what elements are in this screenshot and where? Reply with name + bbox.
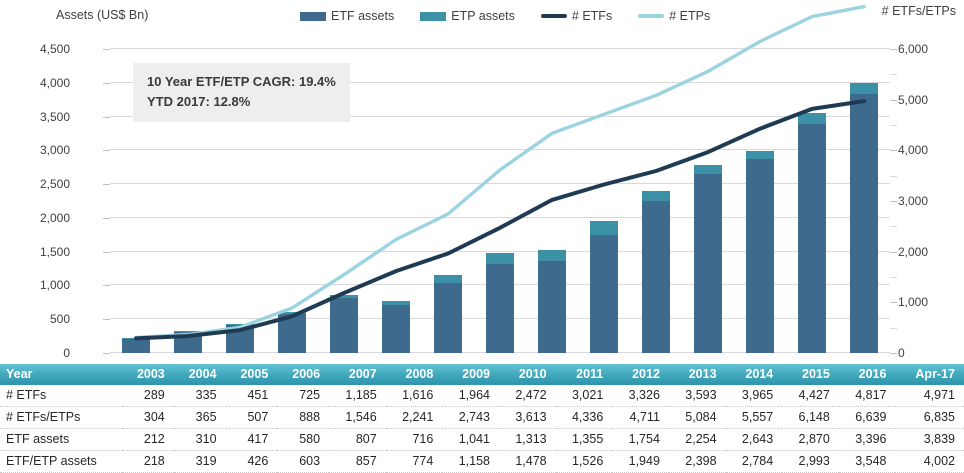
- table-cell: 3,326: [612, 385, 669, 407]
- table-cell: 1,526: [556, 451, 613, 473]
- table-cell: 426: [226, 451, 278, 473]
- right-minor-tick-mark: [890, 277, 897, 278]
- table-cell: 451: [226, 385, 278, 407]
- left-tick-mark: [103, 218, 110, 219]
- table-cell: 6,835: [895, 407, 964, 429]
- table-cell: 1,478: [499, 451, 556, 473]
- table-header-row: Year200320042005200620072008200920102011…: [0, 364, 964, 385]
- legend-item-etps[interactable]: # ETPs: [638, 9, 710, 23]
- left-tick-label: 4,000: [8, 76, 70, 90]
- table-cell: 2,643: [726, 429, 783, 451]
- left-tick-mark: [103, 83, 110, 84]
- table-cell: 4,427: [782, 385, 839, 407]
- table-row-label: ETF assets: [0, 429, 122, 451]
- right-tick-mark: [890, 353, 897, 354]
- left-tick-mark: [103, 150, 110, 151]
- table-cell: 6,639: [839, 407, 896, 429]
- legend-item-etf-assets[interactable]: ETF assets: [300, 9, 394, 23]
- right-tick-mark: [890, 201, 897, 202]
- table-cell: 1,616: [386, 385, 443, 407]
- table-cell: 1,949: [612, 451, 669, 473]
- table-cell: 2,784: [726, 451, 783, 473]
- table-row: ETF/ETP assets2183194266038577741,1581,4…: [0, 451, 964, 473]
- table-cell: 5,557: [726, 407, 783, 429]
- table-cell: 212: [122, 429, 174, 451]
- table-cell: 1,041: [442, 429, 499, 451]
- right-tick-label: 1,000: [898, 295, 958, 309]
- table-cell: 507: [226, 407, 278, 429]
- table-header-year: 2006: [277, 364, 329, 385]
- left-tick-label: 1,000: [8, 278, 70, 292]
- table-row-label: # ETFs/ETPs: [0, 407, 122, 429]
- table-cell: 5,084: [669, 407, 726, 429]
- table-cell: 3,593: [669, 385, 726, 407]
- table-header-year: 2003: [122, 364, 174, 385]
- table-cell: 365: [174, 407, 226, 429]
- table-cell: 2,241: [386, 407, 443, 429]
- annotation-cagr: 10 Year ETF/ETP CAGR: 19.4%: [147, 72, 336, 92]
- left-tick-label: 3,500: [8, 110, 70, 124]
- table-header-year: 2007: [329, 364, 386, 385]
- table-header: Year200320042005200620072008200920102011…: [0, 364, 964, 385]
- table-body: # ETFs2893354517251,1851,6161,9642,4723,…: [0, 385, 964, 473]
- right-tick-mark: [890, 302, 897, 303]
- table-row-label: # ETFs: [0, 385, 122, 407]
- right-tick-label: 5,000: [898, 93, 958, 107]
- left-tick-label: 3,000: [8, 143, 70, 157]
- right-tick-label: 4,000: [898, 143, 958, 157]
- table-cell: 725: [277, 385, 329, 407]
- table-cell: 1,185: [329, 385, 386, 407]
- table-cell: 417: [226, 429, 278, 451]
- legend-item-etfs[interactable]: # ETFs: [541, 9, 612, 23]
- table-row: # ETFs2893354517251,1851,6161,9642,4723,…: [0, 385, 964, 407]
- left-axis-title: Assets (US$ Bn): [56, 8, 148, 22]
- left-tick-mark: [103, 353, 110, 354]
- left-tick-label: 0: [8, 346, 70, 360]
- right-minor-tick-mark: [890, 74, 897, 75]
- table-cell: 888: [277, 407, 329, 429]
- right-tick-label: 6,000: [898, 42, 958, 56]
- right-tick-label: 3,000: [898, 194, 958, 208]
- table-cell: 4,336: [556, 407, 613, 429]
- right-tick-mark: [890, 100, 897, 101]
- right-minor-tick-mark: [890, 226, 897, 227]
- table-cell: 774: [386, 451, 443, 473]
- table-cell: 3,396: [839, 429, 896, 451]
- table-cell: 319: [174, 451, 226, 473]
- legend-label: ETP assets: [451, 9, 515, 23]
- line-etps: [136, 7, 864, 338]
- left-tick-mark: [103, 285, 110, 286]
- table-cell: 3,839: [895, 429, 964, 451]
- left-tick-mark: [103, 252, 110, 253]
- table-cell: 3,613: [499, 407, 556, 429]
- table-cell: 1,158: [442, 451, 499, 473]
- table-header-year: 2014: [726, 364, 783, 385]
- table-cell: 1,754: [612, 429, 669, 451]
- table-header-year: 2013: [669, 364, 726, 385]
- table-cell: 1,313: [499, 429, 556, 451]
- table-cell: 1,546: [329, 407, 386, 429]
- plot-wrapper: 05001,0001,5002,0002,5003,0003,5004,0004…: [0, 34, 964, 361]
- legend-line-icon: [541, 14, 567, 18]
- table-cell: 3,548: [839, 451, 896, 473]
- legend-label: ETF assets: [331, 9, 394, 23]
- legend-label: # ETFs: [572, 9, 612, 23]
- table-header-year: 2011: [556, 364, 613, 385]
- table-cell: 4,711: [612, 407, 669, 429]
- right-minor-tick-mark: [890, 176, 897, 177]
- data-table: Year200320042005200620072008200920102011…: [0, 364, 964, 473]
- left-tick-label: 2,000: [8, 211, 70, 225]
- right-tick-label: 2,000: [898, 245, 958, 259]
- table-cell: 1,964: [442, 385, 499, 407]
- legend-swatch-icon: [300, 12, 326, 21]
- table-cell: 289: [122, 385, 174, 407]
- legend-line-icon: [638, 14, 664, 18]
- legend-label: # ETPs: [669, 9, 710, 23]
- table-cell: 2,743: [442, 407, 499, 429]
- left-tick-label: 2,500: [8, 177, 70, 191]
- right-tick-mark: [890, 49, 897, 50]
- table-cell: 3,021: [556, 385, 613, 407]
- table-cell: 2,254: [669, 429, 726, 451]
- table-cell: 304: [122, 407, 174, 429]
- table-cell: 3,965: [726, 385, 783, 407]
- table-cell: 716: [386, 429, 443, 451]
- legend-swatch-icon: [420, 12, 446, 21]
- left-tick-label: 500: [8, 312, 70, 326]
- table-header-year: 2015: [782, 364, 839, 385]
- annotation-ytd: YTD 2017: 12.8%: [147, 92, 336, 112]
- table-cell: 580: [277, 429, 329, 451]
- table-cell: 6,148: [782, 407, 839, 429]
- table-header-year: Apr-17: [895, 364, 964, 385]
- legend-item-etp-assets[interactable]: ETP assets: [420, 9, 515, 23]
- chart-legend: ETF assetsETP assets# ETFs# ETPs: [300, 9, 710, 23]
- table-cell: 2,870: [782, 429, 839, 451]
- left-tick-label: 4,500: [8, 42, 70, 56]
- table-cell: 807: [329, 429, 386, 451]
- table-cell: 603: [277, 451, 329, 473]
- table-cell: 335: [174, 385, 226, 407]
- table-header-year: 2008: [386, 364, 443, 385]
- right-minor-tick-mark: [890, 125, 897, 126]
- table-header-year: 2012: [612, 364, 669, 385]
- left-tick-mark: [103, 49, 110, 50]
- left-tick-label: 1,500: [8, 245, 70, 259]
- table-row: # ETFs/ETPs3043655078881,5462,2412,7433,…: [0, 407, 964, 429]
- table-cell: 2,472: [499, 385, 556, 407]
- table-cell: 2,993: [782, 451, 839, 473]
- table-row-label: ETF/ETP assets: [0, 451, 122, 473]
- table-header-year: 2010: [499, 364, 556, 385]
- left-tick-mark: [103, 319, 110, 320]
- table-cell: 2,398: [669, 451, 726, 473]
- table-cell: 1,355: [556, 429, 613, 451]
- left-tick-mark: [103, 117, 110, 118]
- table-cell: 4,971: [895, 385, 964, 407]
- table-cell: 4,817: [839, 385, 896, 407]
- table-row: ETF assets2123104175808077161,0411,3131,…: [0, 429, 964, 451]
- table-cell: 857: [329, 451, 386, 473]
- table-header-year: 2009: [442, 364, 499, 385]
- right-tick-mark: [890, 150, 897, 151]
- table-header-year: 2016: [839, 364, 896, 385]
- chart-header: Assets (US$ Bn) ETF assetsETP assets# ET…: [0, 0, 964, 34]
- annotation-box: 10 Year ETF/ETP CAGR: 19.4% YTD 2017: 12…: [133, 63, 350, 122]
- right-minor-tick-mark: [890, 328, 897, 329]
- table-cell: 4,002: [895, 451, 964, 473]
- right-tick-mark: [890, 252, 897, 253]
- table-header-label: Year: [0, 364, 122, 385]
- table-cell: 310: [174, 429, 226, 451]
- table-header-year: 2004: [174, 364, 226, 385]
- line-etfs: [136, 101, 864, 338]
- right-tick-label: 0: [898, 346, 958, 360]
- left-tick-mark: [103, 184, 110, 185]
- right-axis-title: # ETFs/ETPs: [882, 4, 956, 18]
- table-cell: 218: [122, 451, 174, 473]
- table-header-year: 2005: [226, 364, 278, 385]
